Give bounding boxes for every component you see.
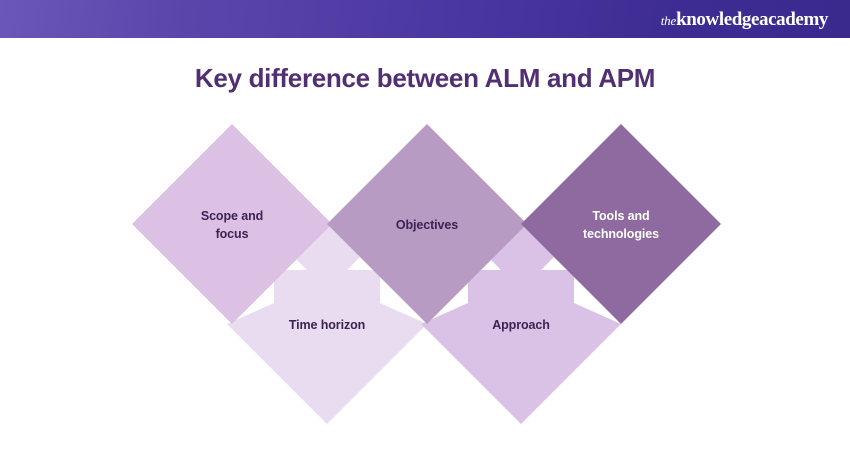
page-title: Key difference between ALM and APM xyxy=(0,63,850,94)
header-bar: theknowledgeacademy xyxy=(0,0,850,38)
diamond-diagram: Time horizon Approach Scope and focus Ob… xyxy=(0,112,850,432)
scope-and-focus-label-line1: Scope and xyxy=(201,209,263,223)
brand-logo: theknowledgeacademy xyxy=(661,10,828,29)
approach-label: Approach xyxy=(492,318,550,332)
objectives-label: Objectives xyxy=(396,218,458,232)
tools-and-technologies-label-line2: technologies xyxy=(583,227,659,241)
brand-name-text: knowledgeacademy xyxy=(676,9,828,30)
time-horizon-label: Time horizon xyxy=(289,318,365,332)
scope-and-focus-label-line2: focus xyxy=(216,227,249,241)
tools-and-technologies-label-line1: Tools and xyxy=(592,209,649,223)
brand-prefix-text: the xyxy=(661,13,676,28)
